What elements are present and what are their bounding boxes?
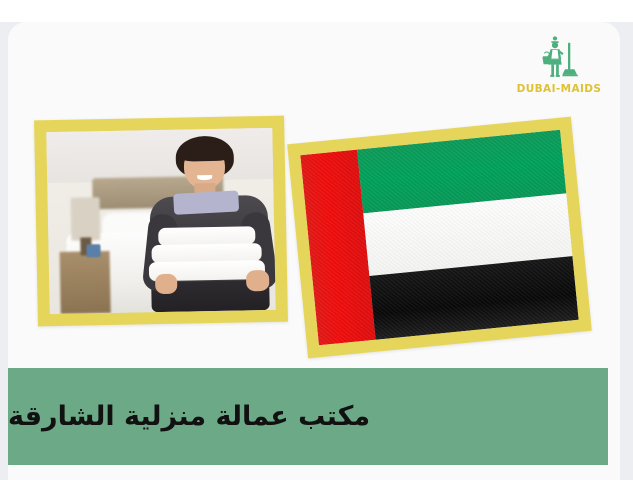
hotel-bedroom-scene (46, 128, 275, 314)
screenshot-viewport: DUBAI-MAIDS (0, 0, 633, 480)
maid-figure (132, 135, 275, 312)
photo-inner-flag (300, 130, 578, 346)
uae-flag (300, 130, 578, 346)
uae-flag-photo (287, 117, 592, 359)
content-card: DUBAI-MAIDS (8, 22, 620, 480)
nightstand (60, 251, 111, 314)
flag-horizontal-bands (357, 130, 578, 340)
brand-logo[interactable]: DUBAI-MAIDS (516, 34, 602, 104)
brand-wordmark: DUBAI-MAIDS (516, 83, 602, 95)
maid-right-hand (246, 270, 270, 291)
caption-title: مكتب عمالة منزلية الشارقة (8, 402, 370, 432)
maid-left-hand (155, 273, 177, 294)
maid-collar (174, 191, 240, 215)
photo-inner-maid (46, 128, 275, 314)
maid-hair-fringe (177, 141, 232, 161)
maid-with-bucket-and-broom-icon (531, 34, 587, 82)
maid-holding-towels-photo (34, 116, 288, 327)
lamp-shade (70, 197, 100, 241)
caption-banner: مكتب عمالة منزلية الشارقة (8, 368, 608, 465)
blue-object (87, 244, 101, 257)
